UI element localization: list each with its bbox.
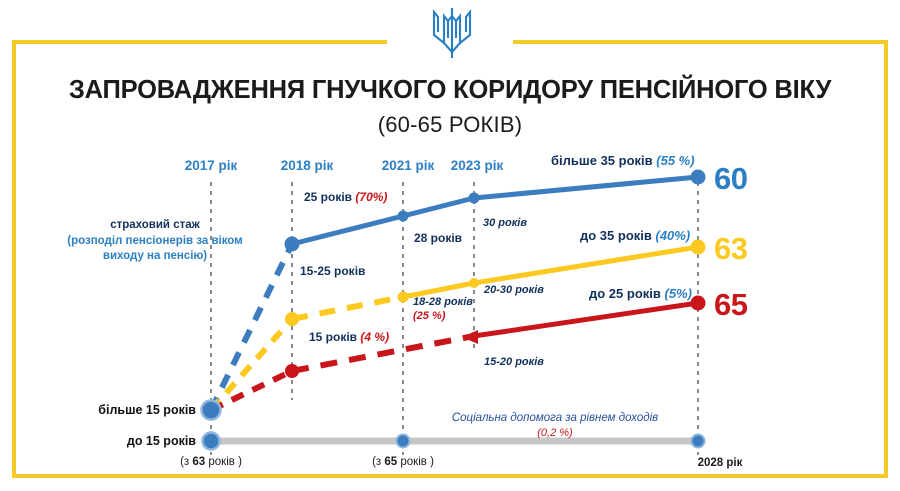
social-assistance-note: Соціальна допомога за рівнем доходів (0,… [405,411,705,440]
tick-caption-2028: 2028 рік [698,457,743,469]
node-blue-2023 [469,193,480,204]
annotation-15-years-2018: 15 років (4 %) [309,330,389,345]
infographic-page: ЗАПРОВАДЖЕННЯ ГНУЧКОГО КОРИДОРУ ПЕНСІЙНО… [0,0,900,491]
retirement-age-60: 60 [714,161,747,197]
red-line-solid [474,303,698,336]
node-origin-more15 [202,401,221,420]
node-yellow-2021 [398,292,409,303]
annotation-30-years-2023: 30 років [483,217,527,231]
node-yellow-2023 [469,278,479,288]
node-red-2018 [285,364,299,378]
yellow-line-segment-2018-2021 [292,297,403,319]
endpoint-label-yellow: до 35 років (40%) [580,228,690,243]
year-header-2023: 2023 рік [451,158,504,173]
red-arrowhead-2023 [462,330,478,344]
node-blue-2018 [285,237,300,252]
annotation-15-20-years-2023: 15-20 років [484,356,544,370]
tick-caption-65: (з 65 років ) [372,456,434,468]
annotation-28-years-2021: 28 років [414,231,462,246]
annotation-20-30-years-2023: 20-30 років [484,284,544,298]
endpoint-label-red: до 25 років (5%) [589,286,692,301]
annotation-15-25-years: 15-25 років [300,264,365,279]
retirement-age-65: 65 [714,287,747,323]
annotation-18-28-years-2021: 18-28 років (25 %) [413,296,473,324]
social-assistance-pct: (0,2 %) [405,426,705,440]
retirement-age-63: 63 [714,231,747,267]
endpoint-label-blue: більше 35 років (55 %) [551,153,695,168]
year-header-2018: 2018 рік [281,158,334,173]
annotation-25-years-2018: 25 років (70%) [304,190,387,205]
insurance-record-title: страховий стаж [50,218,260,234]
axis-label-more-than-15: більше 15 років [0,403,196,417]
year-header-2017: 2017 рік [185,158,238,173]
node-yellow-2028 [691,240,706,255]
insurance-record-subtitle: (розподіл пенсіонерів за віком виходу на… [50,234,260,265]
node-blue-2028 [691,170,706,185]
node-red-2028 [691,296,706,311]
node-origin-upto15 [203,433,220,450]
tick-caption-63: (з 63 років ) [180,456,242,468]
red-line-segment-2017-2018 [211,371,292,410]
node-blue-2021 [398,211,409,222]
insurance-record-note: страховий стаж (розподіл пенсіонерів за … [50,218,260,265]
axis-label-up-to-15: до 15 років [0,434,196,448]
node-yellow-2018 [285,312,299,326]
social-assistance-text: Соціальна допомога за рівнем доходів [405,411,705,426]
year-header-2021: 2021 рік [382,158,435,173]
blue-line-segment-2017-2018 [211,244,292,410]
